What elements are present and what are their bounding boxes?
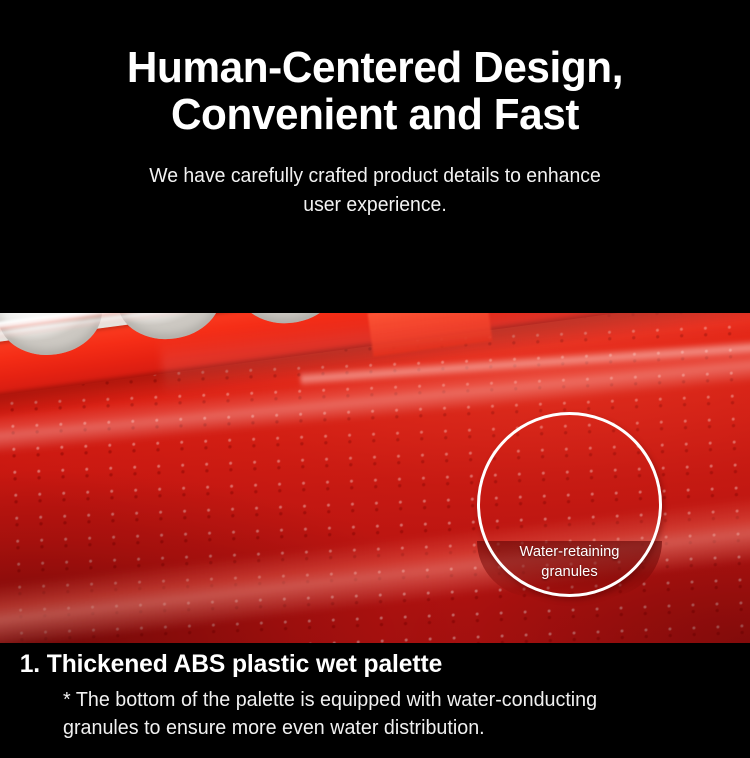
product-photo: Water-retaining granules bbox=[0, 313, 750, 643]
page-subtitle: We have carefully crafted product detail… bbox=[84, 162, 666, 219]
feature-caption-title: 1. Thickened ABS plastic wet palette bbox=[0, 649, 739, 680]
feature-caption: 1. Thickened ABS plastic wet palette * T… bbox=[0, 643, 750, 758]
callout-label: Water-retaining granules bbox=[479, 542, 660, 583]
page-title: Human-Centered Design, Convenient and Fa… bbox=[39, 44, 711, 138]
feature-caption-note: * The bottom of the palette is equipped … bbox=[0, 686, 739, 743]
hero-banner: Human-Centered Design, Convenient and Fa… bbox=[0, 0, 750, 313]
product-feature-slide: Human-Centered Design, Convenient and Fa… bbox=[0, 0, 750, 758]
